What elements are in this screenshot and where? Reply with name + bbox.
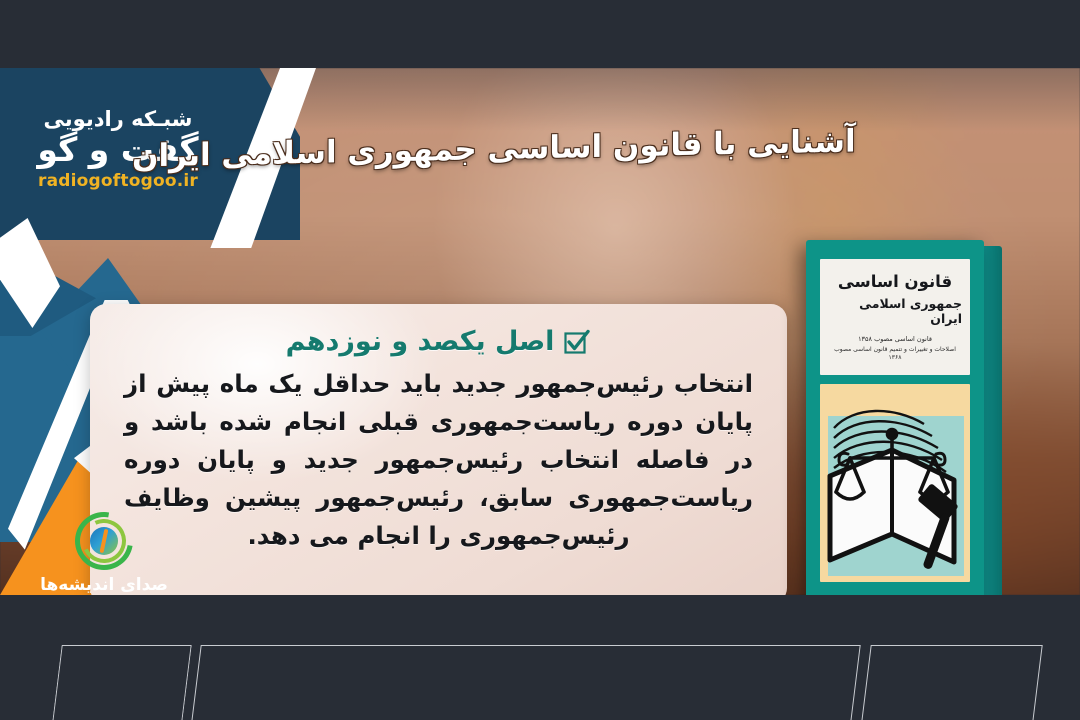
footer-region <box>0 595 1080 720</box>
checkbox-checked-icon <box>564 328 591 355</box>
brand-network-label: شبـکه رادیویی <box>44 107 193 131</box>
book-title-block: قانون اساسی جمهوری اسلامی ایران قانون اس… <box>820 259 970 375</box>
logo-mark-icon <box>75 512 133 570</box>
book-front-cover: قانون اساسی جمهوری اسلامی ایران قانون اس… <box>806 240 984 595</box>
book-cover-footer <box>820 582 970 594</box>
article-body-text: انتخاب رئیس‌جمهور جدید باید حداقل یک ماه… <box>124 365 753 555</box>
footer-frame-middle <box>191 645 860 720</box>
infographic-stage: شبـکه رادیویی گفت و گو radiogoftogoo.ir … <box>0 0 1080 720</box>
book-cover-illustration <box>820 384 970 582</box>
banner-region: شبـکه رادیویی گفت و گو radiogoftogoo.ir … <box>0 68 1080 595</box>
brand-website-url[interactable]: radiogoftogoo.ir <box>38 171 198 191</box>
radio-station-logo-icon[interactable]: صدای اندیشه‌ها <box>34 512 174 595</box>
book-title: قانون اساسی <box>838 272 952 291</box>
article-heading-row: اصل یکصد و نوزدهم <box>124 326 753 357</box>
station-name: صدای اندیشه‌ها <box>40 575 168 595</box>
book-spine <box>982 246 1002 595</box>
book-note-1: قانون اساسی مصوب ۱۳۵۸ <box>858 335 932 343</box>
book-note-2: اصلاحات و تغییرات و تتمیم قانون اساسی مص… <box>828 346 962 362</box>
logo-core <box>90 527 118 555</box>
footer-frame-right <box>861 645 1042 720</box>
article-heading: اصل یکصد و نوزدهم <box>286 326 555 357</box>
footer-frame-left <box>52 645 191 720</box>
article-card: اصل یکصد و نوزدهم انتخاب رئیس‌جمهور جدید… <box>90 304 787 595</box>
constitution-book: قانون اساسی جمهوری اسلامی ایران قانون اس… <box>806 240 1002 595</box>
book-subtitle: جمهوری اسلامی ایران <box>828 296 962 326</box>
